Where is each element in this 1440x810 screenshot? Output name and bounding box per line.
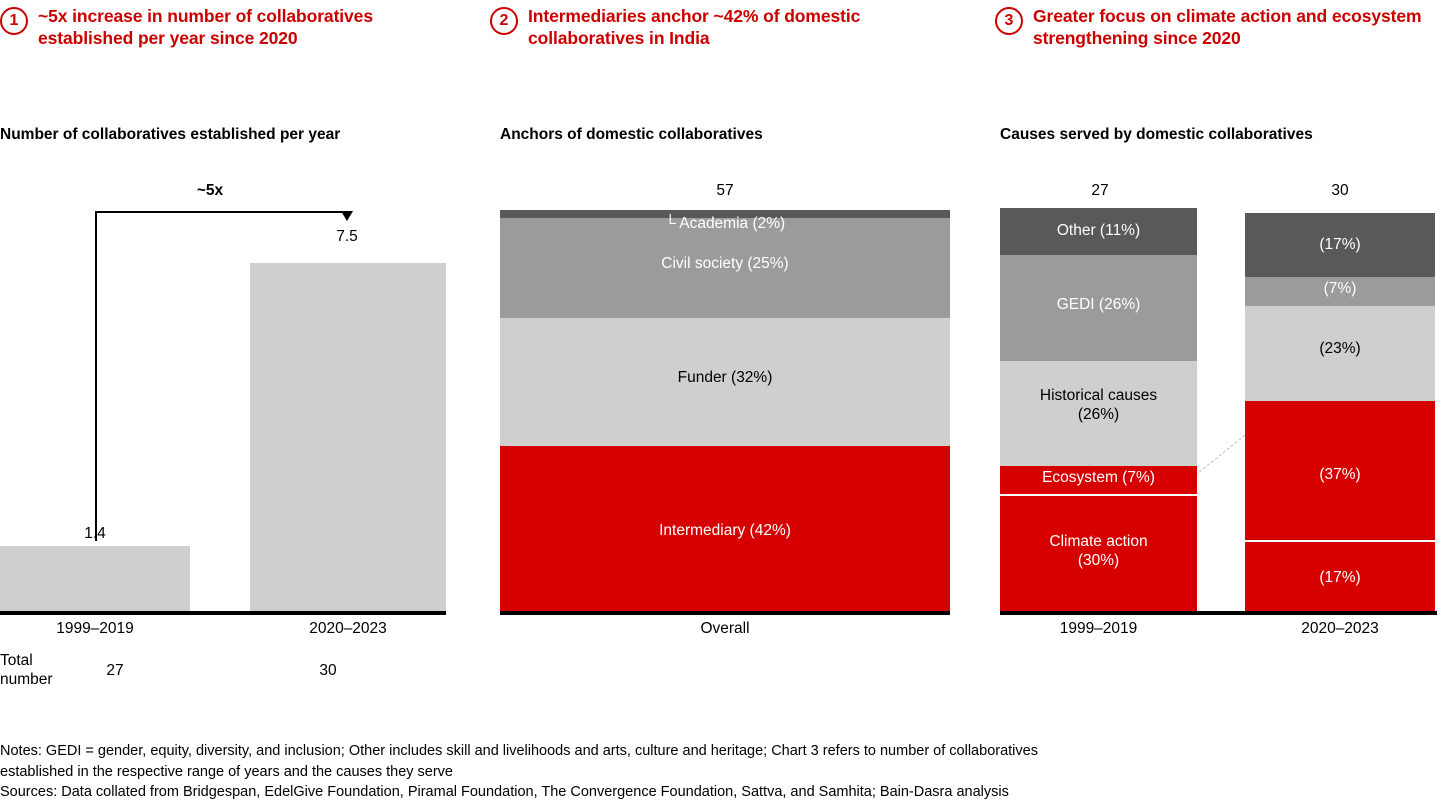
- panel-3-headline: Greater focus on climate action and ecos…: [1033, 6, 1435, 49]
- panel-1-headline: ~5x increase in number of collaboratives…: [38, 6, 430, 49]
- chart1-bar2-value: 7.5: [277, 228, 417, 246]
- chart1-axis: [0, 611, 446, 615]
- chart1-multiplier-label: ~5x: [110, 182, 310, 200]
- panel-chart-3: 3 Greater focus on climate action and ec…: [995, 0, 1440, 810]
- panel-2-subtitle: Anchors of domestic collaboratives: [500, 125, 940, 145]
- chart3-stacked-bar-2020-2023: [1245, 213, 1435, 611]
- chart1-bar-1999-2019: [0, 546, 190, 611]
- chart2-column-total: 57: [500, 182, 950, 200]
- chart2-label-funder: Funder (32%): [500, 368, 950, 387]
- panel-1-badge: 1: [0, 7, 28, 35]
- chart1-arrow-horizontal: [95, 211, 347, 213]
- chart2-category-overall: Overall: [500, 620, 950, 638]
- chart3-label-ecosystem-1999-2019: Ecosystem (7%): [1000, 468, 1197, 487]
- panel-3-subtitle: Causes served by domestic collaboratives: [1000, 125, 1400, 145]
- panel-2-headline: Intermediaries anchor ~42% of domestic c…: [528, 6, 930, 49]
- chart3-label-climate-action-2020-2023: (17%): [1245, 568, 1435, 587]
- chart3-label-historical-1999-2019: Historical causes(26%): [1000, 386, 1197, 425]
- chart1-total-row-label: Total number: [0, 652, 80, 689]
- chart3-label-gedi-2020-2023: (7%): [1245, 279, 1435, 298]
- chart2-label-intermediary: Intermediary (42%): [500, 521, 950, 540]
- panel-3-header: 3 Greater focus on climate action and ec…: [995, 6, 1435, 49]
- chart3-label-other-2020-2023: (17%): [1245, 235, 1435, 254]
- academia-leader-icon: └: [665, 215, 676, 232]
- footnote-notes-line-2: established in the respective range of y…: [0, 762, 1440, 783]
- footnotes: Notes: GEDI = gender, equity, diversity,…: [0, 741, 1440, 803]
- chart3-column-total-2020-2023: 30: [1245, 182, 1435, 200]
- chart2-label-academia: └ Academia (2%): [500, 214, 950, 233]
- chart1-bar-2020-2023: [250, 263, 446, 611]
- panel-chart-2: 2 Intermediaries anchor ~42% of domestic…: [490, 0, 995, 810]
- chart3-category-1999-2019: 1999–2019: [1000, 620, 1197, 638]
- panel-2-badge: 2: [490, 7, 518, 35]
- panel-3-badge: 3: [995, 7, 1023, 35]
- chart1-total-1999-2019: 27: [75, 662, 155, 680]
- panel-1-header: 1 ~5x increase in number of collaborativ…: [0, 6, 430, 49]
- chart1-bar1-value: 1.4: [25, 525, 165, 543]
- chart1-category-2020-2023: 2020–2023: [248, 620, 448, 638]
- chart1-arrow-head: [341, 211, 353, 221]
- chart3-category-2020-2023: 2020–2023: [1245, 620, 1435, 638]
- chart3-label-gedi-1999-2019: GEDI (26%): [1000, 295, 1197, 314]
- panel-1-subtitle: Number of collaboratives established per…: [0, 125, 420, 145]
- panel-2-header: 2 Intermediaries anchor ~42% of domestic…: [490, 6, 930, 49]
- chart3-column-total-1999-2019: 27: [1000, 182, 1200, 200]
- chart1-total-row-label-line2: number: [0, 671, 80, 690]
- chart1-arrow-vertical: [95, 211, 97, 541]
- chart1-total-2020-2023: 30: [288, 662, 368, 680]
- chart3-label-climate-action-1999-2019: Climate action(30%): [1000, 532, 1197, 571]
- footnote-notes-line-1: Notes: GEDI = gender, equity, diversity,…: [0, 741, 1440, 762]
- chart3-label-historical-2020-2023: (23%): [1245, 339, 1435, 358]
- footnote-sources: Sources: Data collated from Bridgespan, …: [0, 782, 1440, 803]
- chart2-axis: [500, 611, 950, 615]
- chart2-label-academia-text: Academia (2%): [676, 215, 785, 232]
- chart1-total-row-label-line1: Total: [0, 652, 80, 671]
- chart3-label-other-1999-2019: Other (11%): [1000, 221, 1197, 240]
- chart2-label-civil-society: Civil society (25%): [500, 254, 950, 273]
- chart1-category-1999-2019: 1999–2019: [15, 620, 175, 638]
- chart3-axis: [1000, 611, 1437, 615]
- chart3-label-ecosystem-2020-2023: (37%): [1245, 465, 1435, 484]
- panel-chart-1: 1 ~5x increase in number of collaborativ…: [0, 0, 490, 810]
